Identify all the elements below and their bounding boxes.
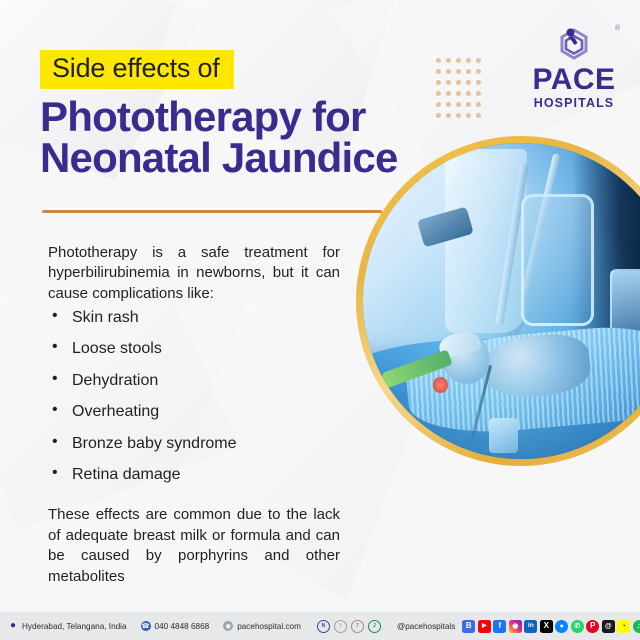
nabl-accreditation-badge: T bbox=[351, 620, 364, 633]
registered-trademark-symbol: ® bbox=[615, 25, 620, 32]
list-item: Retina damage bbox=[48, 467, 348, 483]
title-divider bbox=[42, 210, 382, 213]
list-item: Bronze baby syndrome bbox=[48, 436, 348, 452]
headline-line-2: Neonatal Jaundice bbox=[40, 137, 398, 178]
jci-accreditation-badge: J bbox=[368, 620, 381, 633]
dot-grid-decoration bbox=[436, 58, 486, 124]
list-item: Dehydration bbox=[48, 373, 348, 389]
list-item: Skin rash bbox=[48, 310, 348, 326]
phone-icon: ☎ bbox=[141, 621, 151, 631]
footer-phone-text: 040 4848 6868 bbox=[155, 622, 210, 631]
headline-line-1: Phototherapy for bbox=[40, 93, 366, 140]
globe-icon: ◉ bbox=[223, 621, 233, 631]
linkedin-icon[interactable]: in bbox=[524, 620, 537, 633]
footer-location: ● Hyderabad, Telangana, India bbox=[8, 621, 127, 631]
footer-website-text: pacehospital.com bbox=[237, 622, 301, 631]
facebook-icon[interactable]: f bbox=[493, 620, 506, 633]
spotify-icon[interactable]: ♫ bbox=[633, 620, 640, 633]
logo-wordmark: PACE bbox=[522, 65, 626, 95]
hexagon-person-icon: ® bbox=[522, 24, 626, 64]
snapchat-icon[interactable]: ◔ bbox=[617, 620, 630, 633]
youtube-icon[interactable]: ▶ bbox=[478, 620, 491, 633]
footer-bar: ● Hyderabad, Telangana, India ☎ 040 4848… bbox=[0, 612, 640, 640]
pinterest-icon[interactable]: P bbox=[586, 620, 599, 633]
infographic-poster: Side effects of Phototherapy for Neonata… bbox=[0, 0, 640, 640]
footer-phone[interactable]: ☎ 040 4848 6868 bbox=[141, 621, 210, 631]
phototherapy-photo bbox=[363, 143, 640, 459]
iso-accreditation-badge: I bbox=[334, 620, 347, 633]
instagram-icon[interactable]: ◉ bbox=[509, 620, 522, 633]
footer-website[interactable]: ◉ pacehospital.com bbox=[223, 621, 301, 631]
location-pin-icon: ● bbox=[8, 621, 18, 631]
list-item: Loose stools bbox=[48, 341, 348, 357]
whatsapp-icon[interactable]: ✆ bbox=[571, 620, 584, 633]
side-effects-list: Skin rash Loose stools Dehydration Overh… bbox=[48, 310, 348, 498]
messenger-icon[interactable]: ● bbox=[555, 620, 568, 633]
page-title: Phototherapy for Neonatal Jaundice bbox=[40, 96, 398, 178]
intro-paragraph: Phototherapy is a safe treatment for hyp… bbox=[48, 243, 340, 304]
footer-location-text: Hyderabad, Telangana, India bbox=[22, 622, 127, 631]
social-handle: @pacehospitals bbox=[397, 622, 455, 631]
outro-paragraph: These effects are common due to the lack… bbox=[48, 505, 340, 587]
kicker-text: Side effects of bbox=[40, 50, 234, 89]
nabh-accreditation-badge: N bbox=[317, 620, 330, 633]
logo-subtitle: HOSPITALS bbox=[522, 97, 626, 110]
accreditation-badges: N I T J bbox=[317, 620, 381, 633]
threads-icon[interactable]: @ bbox=[602, 620, 615, 633]
brand-logo: ® PACE HOSPITALS bbox=[522, 24, 626, 110]
bluesky-icon[interactable]: B bbox=[462, 620, 475, 633]
x-twitter-icon[interactable]: X bbox=[540, 620, 553, 633]
list-item: Overheating bbox=[48, 404, 348, 420]
social-icons: B ▶ f ◉ in X ● ✆ P @ ◔ ♫ bbox=[462, 620, 640, 633]
phototherapy-photo-frame bbox=[356, 136, 640, 466]
